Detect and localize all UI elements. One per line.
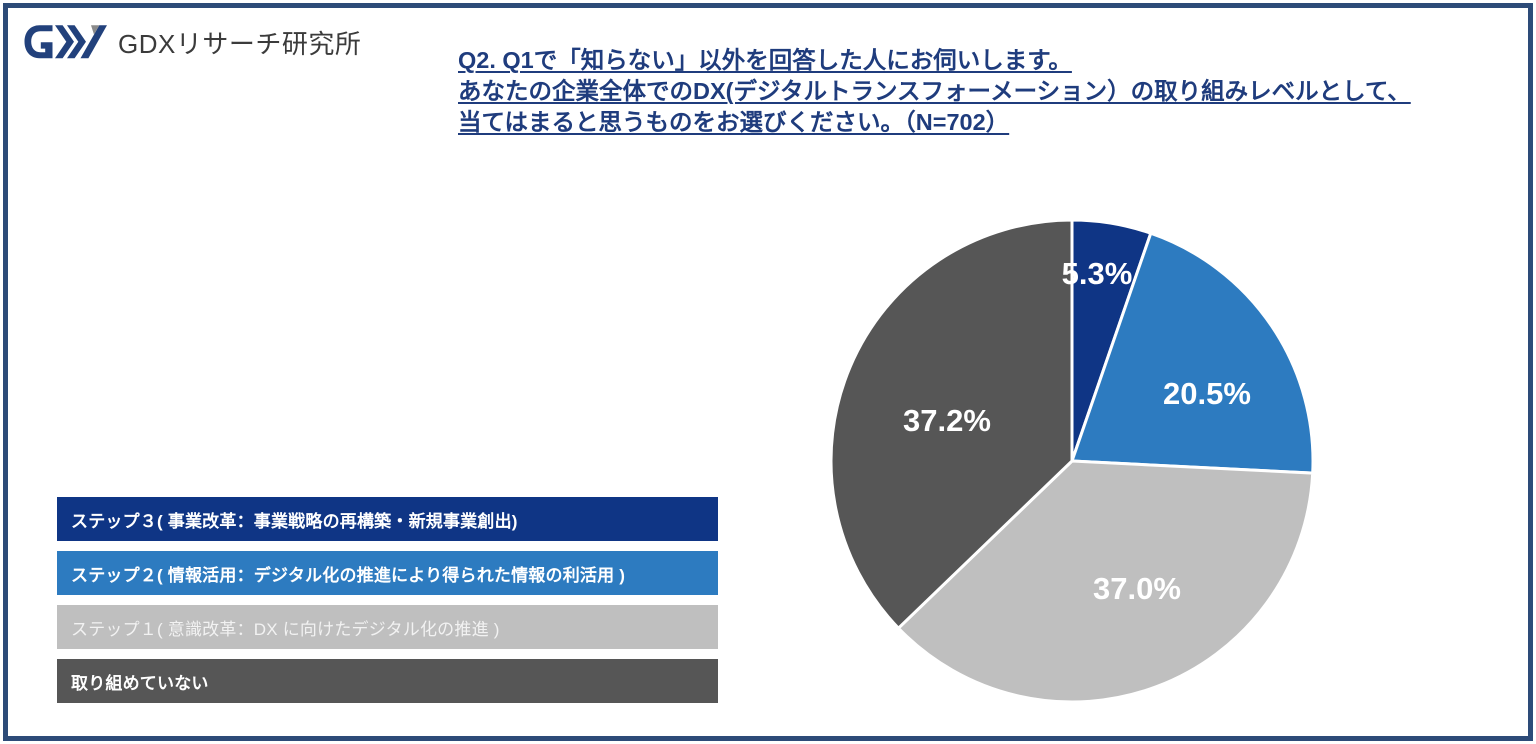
gdx-logo-icon: [22, 22, 108, 62]
page-title-line-2: あなたの企業全体でのDX(デジタルトランスフォーメーション）の取り組みレベルとし…: [458, 76, 1468, 107]
legend-item-step1: ステップ１( 意識改革：DX に向けたデジタル化の推進 ): [57, 605, 718, 649]
pie-slice-label: 5.3%: [1062, 256, 1133, 291]
legend-item-label: 取り組めていない: [71, 669, 209, 694]
page-title: Q2. Q1で「知らない」以外を回答した人にお伺いします。 あなたの企業全体での…: [458, 45, 1468, 138]
legend-item-label: ステップ３( 事業改革：事業戦略の再構築・新規事業創出): [71, 507, 518, 532]
legend-item-label: ステップ２( 情報活用：デジタル化の推進により得られた情報の利活用 ): [71, 561, 625, 586]
chart-legend: ステップ３( 事業改革：事業戦略の再構築・新規事業創出) ステップ２( 情報活用…: [57, 497, 718, 703]
pie-slice-label: 37.0%: [1093, 571, 1181, 606]
brand-header: GDXリサーチ研究所: [22, 22, 361, 62]
legend-item-step3: ステップ３( 事業改革：事業戦略の再構築・新規事業創出): [57, 497, 718, 541]
pie-chart: 5.3%20.5%37.0%37.2%: [812, 201, 1332, 721]
brand-name-label: GDXリサーチ研究所: [118, 24, 361, 61]
legend-item-label: ステップ１( 意識改革：DX に向けたデジタル化の推進 ): [71, 615, 500, 640]
legend-item-step2: ステップ２( 情報活用：デジタル化の推進により得られた情報の利活用 ): [57, 551, 718, 595]
legend-item-none: 取り組めていない: [57, 659, 718, 703]
pie-slice-label: 20.5%: [1163, 376, 1251, 411]
pie-slices: [831, 220, 1313, 702]
page-title-line-3: 当てはまると思うものをお選びください。（N=702）: [458, 107, 1468, 138]
page-title-line-1: Q2. Q1で「知らない」以外を回答した人にお伺いします。: [458, 45, 1468, 76]
slide-root: GDXリサーチ研究所 Q2. Q1で「知らない」以外を回答した人にお伺いします。…: [0, 0, 1536, 744]
pie-slice-label: 37.2%: [903, 403, 991, 438]
